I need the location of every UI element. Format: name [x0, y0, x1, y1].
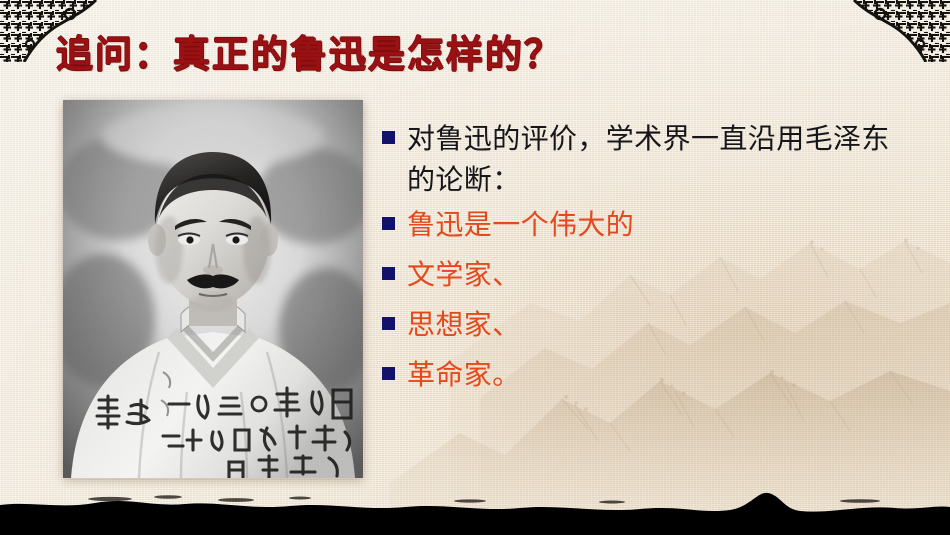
bottom-ink-band — [0, 487, 950, 535]
list-item: 思想家、 — [382, 304, 912, 345]
bullet-list: 对鲁迅的评价，学术界一直沿用毛泽东的论断： 鲁迅是一个伟大的 文学家、 思想家、… — [382, 118, 912, 404]
page-title: 追问：真正的鲁迅是怎样的？ — [56, 24, 563, 78]
list-item-label: 对鲁迅的评价，学术界一直沿用毛泽东的论断： — [407, 118, 912, 200]
square-bullet-icon — [382, 367, 395, 380]
list-item: 革命家。 — [382, 354, 912, 395]
list-item: 文学家、 — [382, 254, 912, 295]
list-item: 对鲁迅的评价，学术界一直沿用毛泽东的论断： — [382, 118, 912, 200]
list-item-label: 文学家、 — [407, 254, 521, 295]
slide-canvas: 追问：真正的鲁迅是怎样的？ — [0, 0, 950, 535]
square-bullet-icon — [382, 131, 395, 144]
portrait-photo — [63, 100, 363, 478]
list-item: 鲁迅是一个伟大的 — [382, 204, 912, 245]
lu-xun-portrait-image — [63, 100, 363, 478]
square-bullet-icon — [382, 267, 395, 280]
list-item-label: 鲁迅是一个伟大的 — [407, 204, 634, 245]
square-bullet-icon — [382, 217, 395, 230]
square-bullet-icon — [382, 317, 395, 330]
lattice-ornament-icon — [840, 0, 950, 62]
list-item-label: 思想家、 — [407, 304, 521, 345]
list-item-label: 革命家。 — [407, 354, 521, 395]
